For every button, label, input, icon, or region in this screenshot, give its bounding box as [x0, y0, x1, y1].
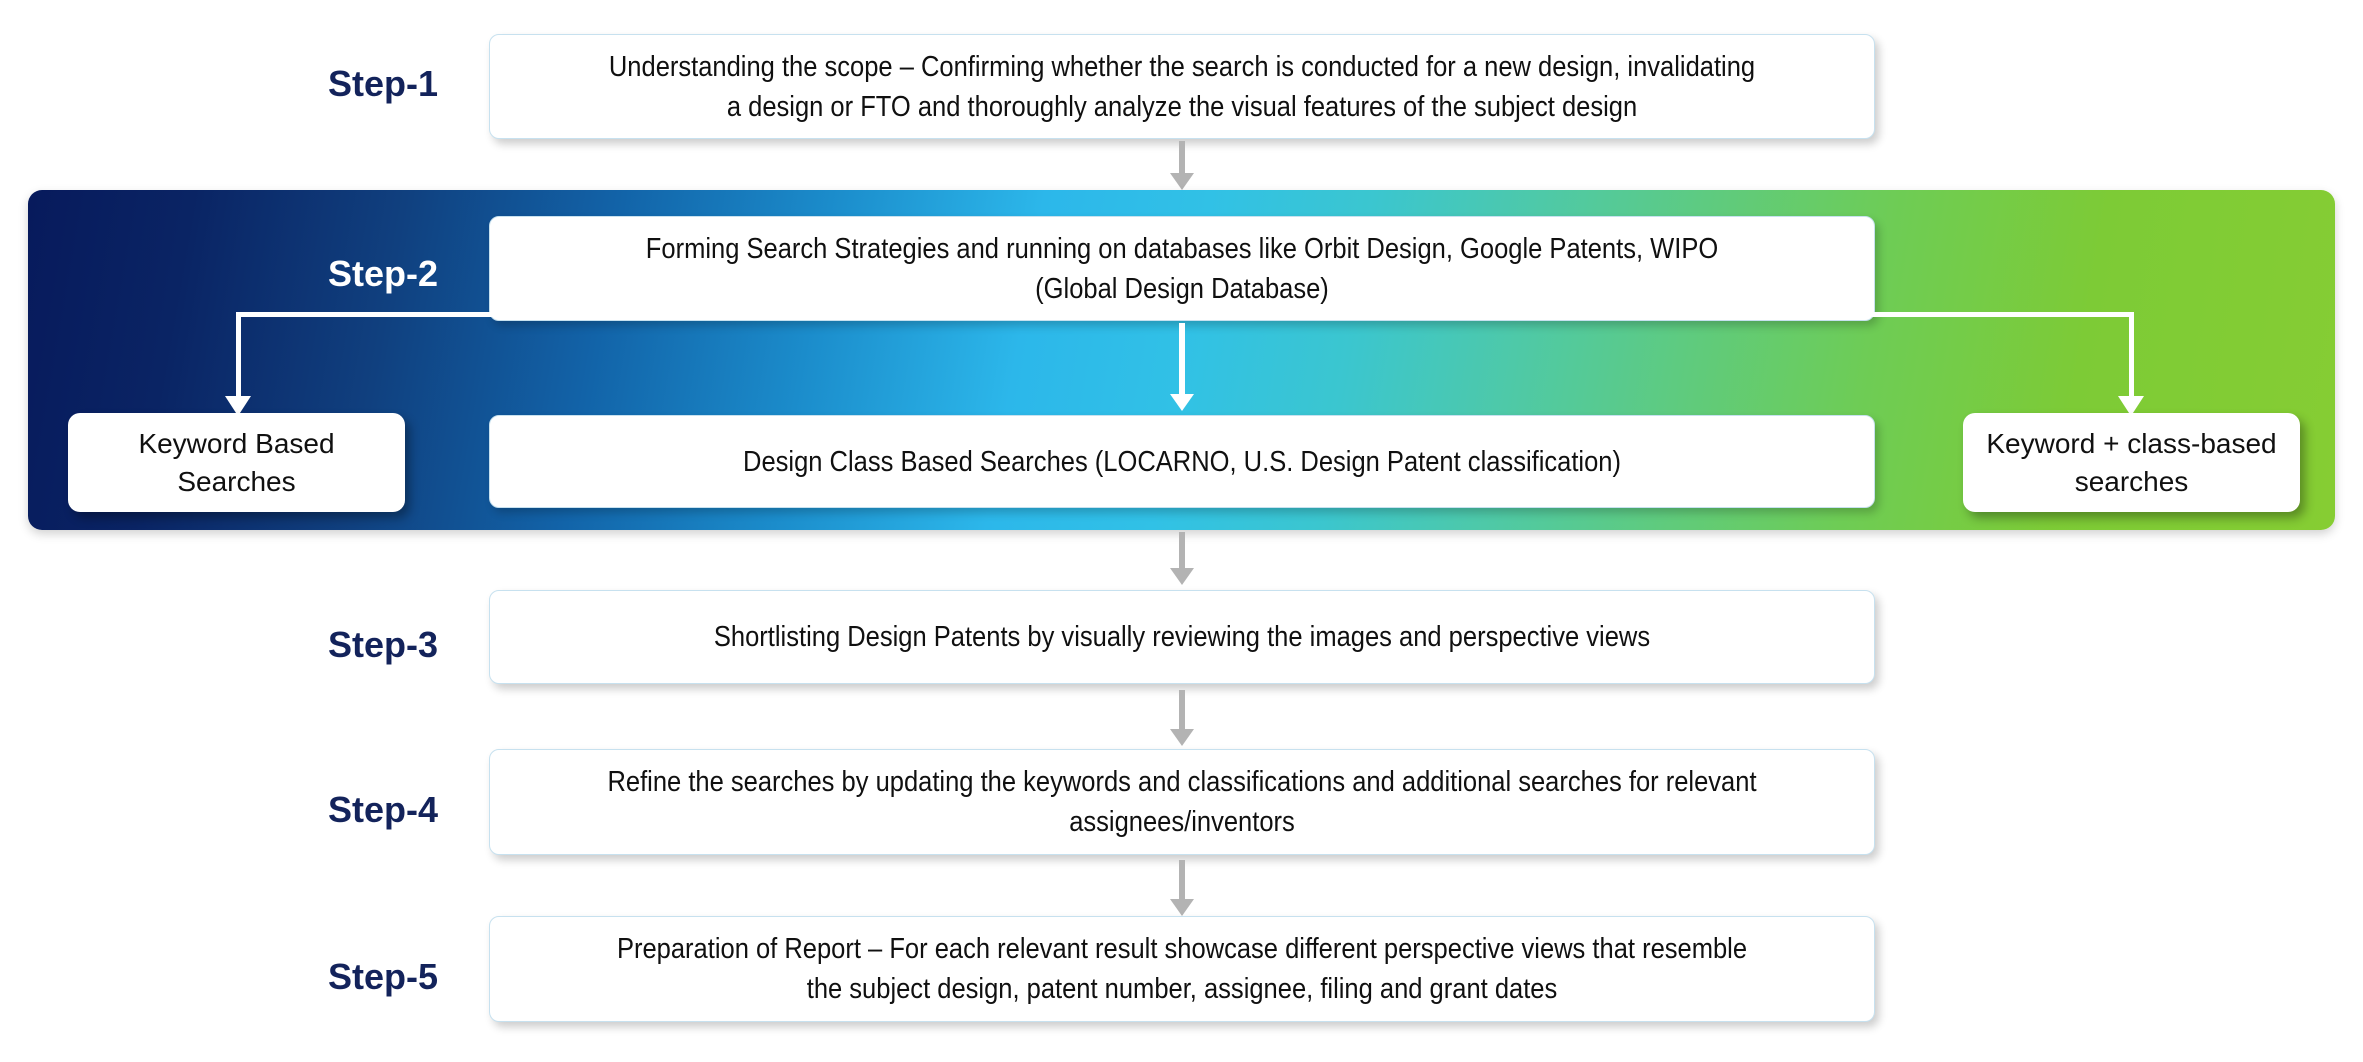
connector-step2-to-keyword-based	[232, 312, 494, 420]
arrow-step2-to-design-class	[1170, 323, 1194, 413]
step-3-text: Shortlisting Design Patents by visually …	[573, 617, 1791, 657]
step-4-text: Refine the searches by updating the keyw…	[573, 762, 1791, 842]
step-5-card[interactable]: Preparation of Report – For each relevan…	[489, 916, 1875, 1022]
connector-step2-to-keyword-class-based	[1872, 312, 2138, 420]
step-1-text: Understanding the scope – Confirming whe…	[573, 47, 1791, 127]
step-label-2: Step-2	[326, 253, 440, 295]
step-label-3: Step-3	[326, 624, 440, 666]
keyword-based-searches-card[interactable]: Keyword Based Searches	[68, 413, 405, 512]
step-1-card[interactable]: Understanding the scope – Confirming whe…	[489, 34, 1875, 139]
keyword-based-searches-text: Keyword Based Searches	[68, 425, 405, 501]
step-label-4-real: Step-4	[326, 789, 440, 831]
arrow-step1-to-step2	[1170, 141, 1194, 190]
arrow-step3-to-step4	[1170, 690, 1194, 748]
step-2-card[interactable]: Forming Search Strategies and running on…	[489, 216, 1875, 321]
arrow-step2-to-step3	[1170, 532, 1194, 586]
keyword-class-based-searches-text: Keyword + class-based searches	[1963, 425, 2300, 501]
design-class-based-searches-card[interactable]: Design Class Based Searches (LOCARNO, U.…	[489, 415, 1875, 508]
step-3-card[interactable]: Shortlisting Design Patents by visually …	[489, 590, 1875, 684]
design-class-based-searches-text: Design Class Based Searches (LOCARNO, U.…	[573, 442, 1791, 482]
step-label-1: Step-1	[326, 63, 440, 105]
step-label-5: Step-5	[326, 956, 440, 998]
step-2-text: Forming Search Strategies and running on…	[573, 229, 1791, 309]
flowchart-canvas: Step-1 Understanding the scope – Confirm…	[0, 0, 2363, 1062]
keyword-class-based-searches-card[interactable]: Keyword + class-based searches	[1963, 413, 2300, 512]
step-5-text: Preparation of Report – For each relevan…	[573, 929, 1791, 1009]
step-4-card[interactable]: Refine the searches by updating the keyw…	[489, 749, 1875, 855]
arrow-step4-to-step5	[1170, 860, 1194, 918]
